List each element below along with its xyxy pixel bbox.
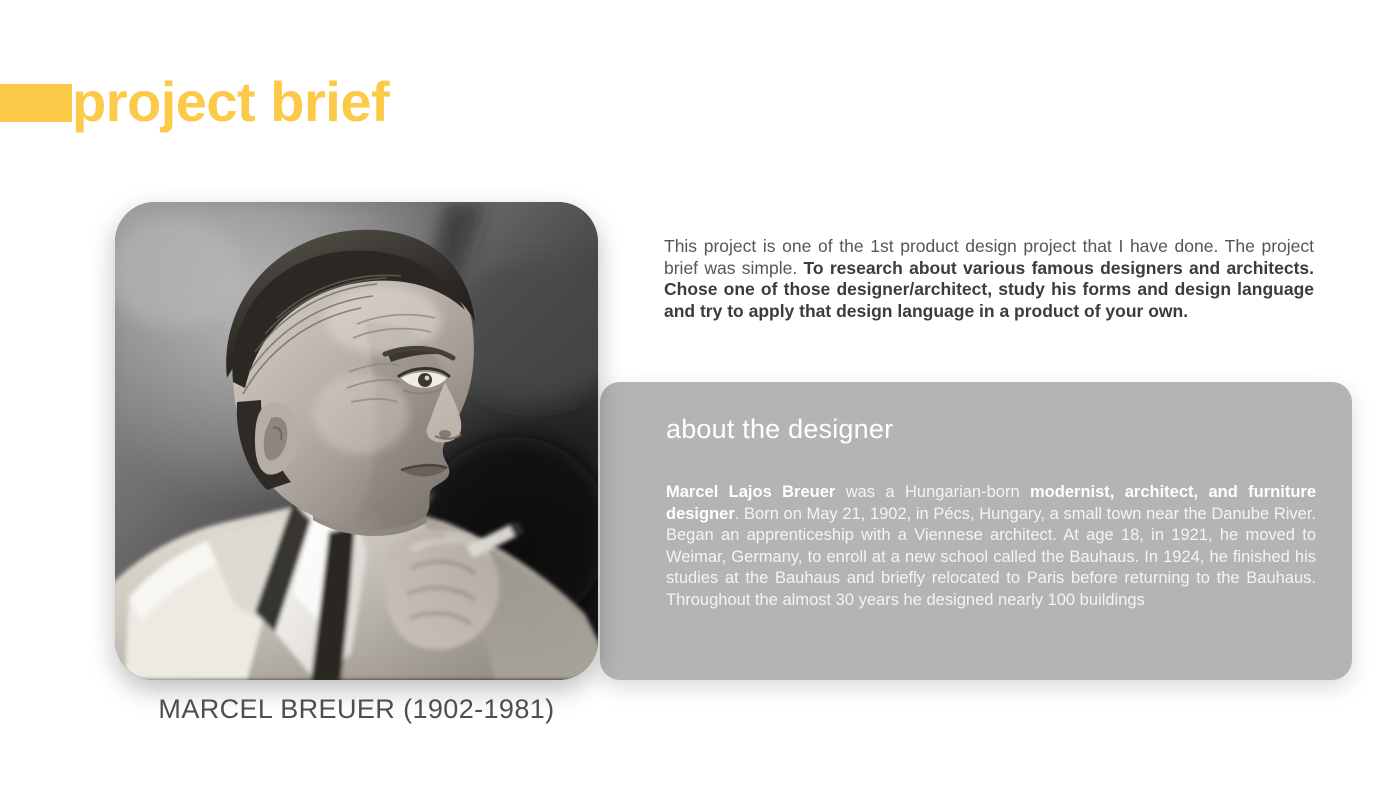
about-the-designer-panel: about the designer Marcel Lajos Breuer w…	[600, 382, 1352, 680]
bio-segment-1: was a Hungarian-born	[835, 483, 1030, 501]
designer-portrait-photo	[115, 202, 598, 680]
panel-body-text: Marcel Lajos Breuer was a Hungarian-born…	[666, 482, 1316, 611]
portrait-illustration	[115, 202, 598, 680]
title-accent-bar	[0, 84, 72, 122]
bio-segment-2: . Born on May 21, 1902, in Pécs, Hungary…	[666, 505, 1316, 609]
designer-name: Marcel Lajos Breuer	[666, 483, 835, 501]
photo-caption: MARCEL BREUER (1902-1981)	[115, 694, 598, 725]
page-title: project brief	[72, 70, 389, 134]
panel-heading: about the designer	[666, 414, 893, 445]
project-brief-paragraph: This project is one of the 1st product d…	[664, 236, 1314, 322]
